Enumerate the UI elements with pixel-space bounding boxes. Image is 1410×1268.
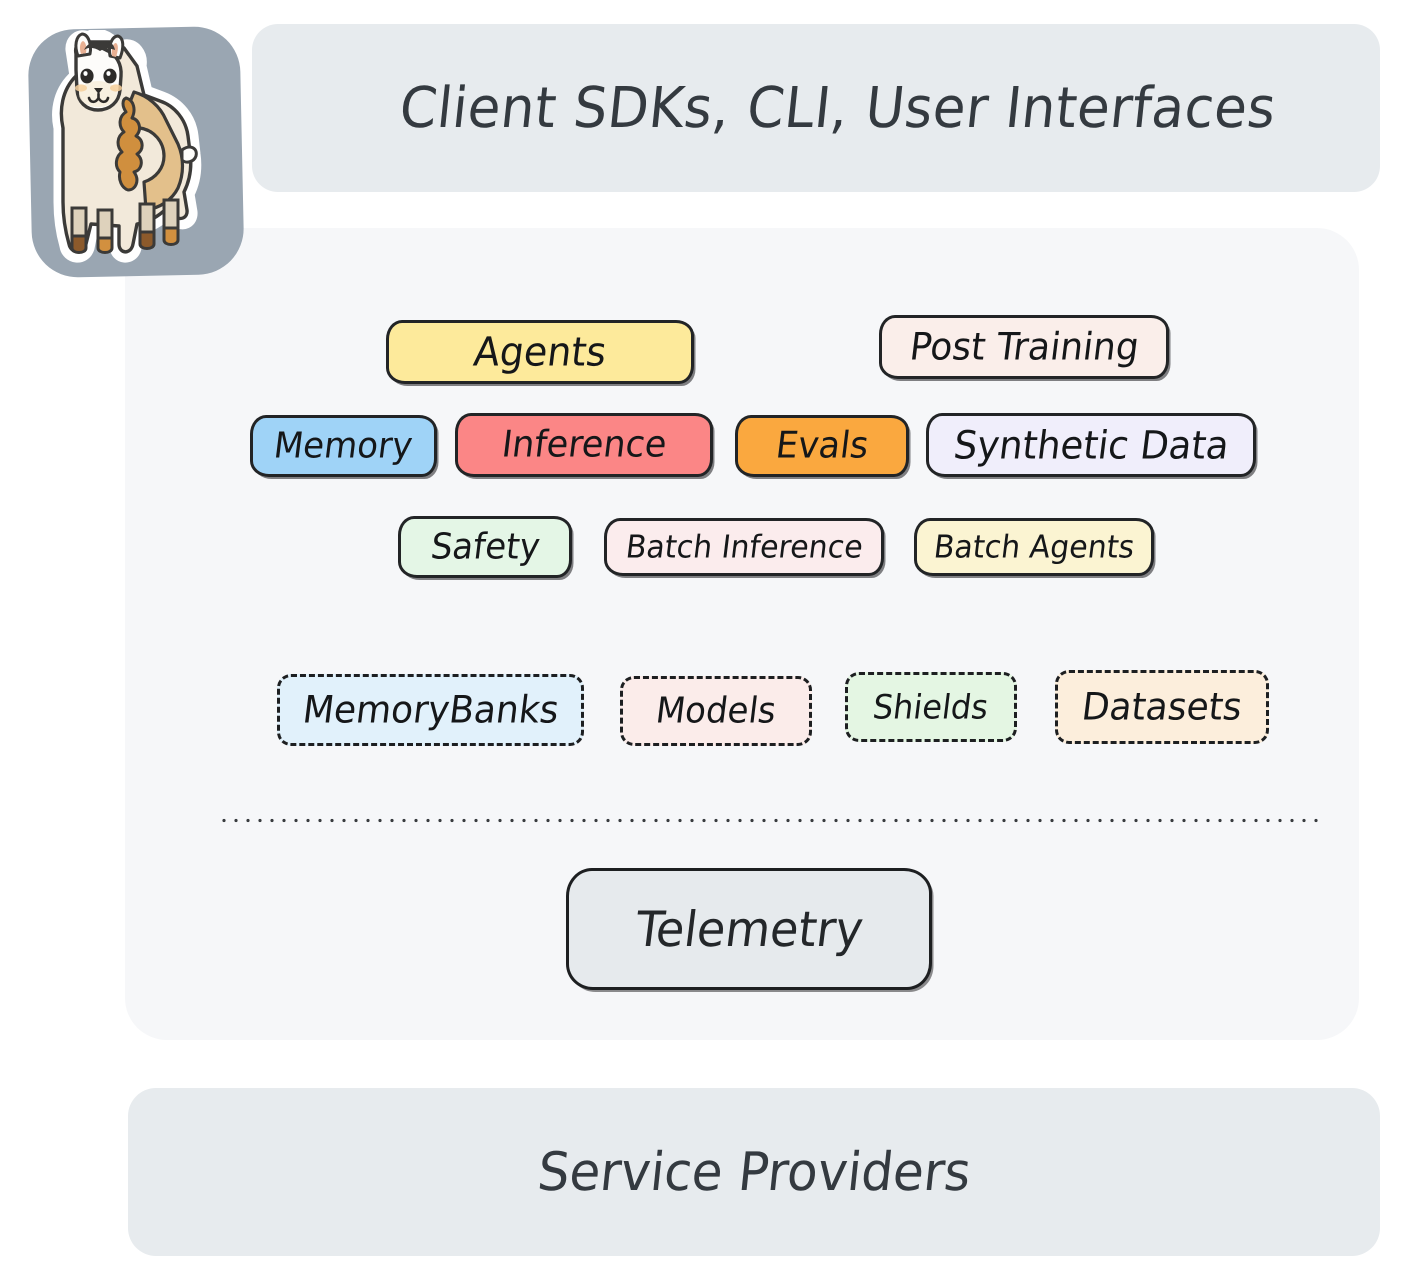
client-interfaces-header-bar: Client SDKs, CLI, User Interfaces bbox=[252, 24, 1380, 192]
api-box-synthetic-data[interactable]: Synthetic Data bbox=[926, 413, 1256, 477]
api-box-batch-agents[interactable]: Batch Agents bbox=[914, 518, 1154, 576]
api-box-evals[interactable]: Evals bbox=[735, 415, 909, 477]
api-box-safety[interactable]: Safety bbox=[398, 516, 572, 578]
box-label: Batch Agents bbox=[932, 529, 1137, 566]
box-label: Models bbox=[654, 690, 779, 732]
page-title: Client SDKs, CLI, User Interfaces bbox=[353, 76, 1280, 141]
box-label: Agents bbox=[471, 329, 609, 375]
box-label: Evals bbox=[773, 425, 870, 467]
box-label: Memory bbox=[272, 425, 415, 467]
dotted-divider bbox=[218, 818, 1318, 823]
box-label: Synthetic Data bbox=[951, 422, 1231, 467]
box-label: Shields bbox=[871, 687, 991, 727]
telemetry-box[interactable]: Telemetry bbox=[566, 868, 932, 990]
api-box-post-training[interactable]: Post Training bbox=[879, 315, 1169, 379]
api-box-agents[interactable]: Agents bbox=[386, 320, 694, 384]
resource-box-models[interactable]: Models bbox=[620, 676, 812, 746]
box-label: Safety bbox=[428, 526, 542, 568]
box-label: Datasets bbox=[1079, 685, 1244, 728]
resource-box-memorybanks[interactable]: MemoryBanks bbox=[277, 674, 584, 746]
api-box-batch-inference[interactable]: Batch Inference bbox=[604, 518, 884, 576]
resource-box-shields[interactable]: Shields bbox=[845, 672, 1017, 742]
box-label: MemoryBanks bbox=[300, 688, 561, 731]
service-providers-footer-bar: Service Providers bbox=[128, 1088, 1380, 1256]
llama-logo-icon bbox=[34, 30, 209, 270]
resource-box-datasets[interactable]: Datasets bbox=[1055, 670, 1269, 744]
box-label: Inference bbox=[499, 424, 669, 466]
box-label: Post Training bbox=[907, 325, 1141, 368]
api-box-memory[interactable]: Memory bbox=[250, 415, 437, 477]
box-label: Batch Inference bbox=[623, 529, 864, 566]
api-box-inference[interactable]: Inference bbox=[455, 413, 713, 477]
telemetry-label: Telemetry bbox=[632, 900, 866, 957]
footer-title: Service Providers bbox=[534, 1141, 973, 1202]
